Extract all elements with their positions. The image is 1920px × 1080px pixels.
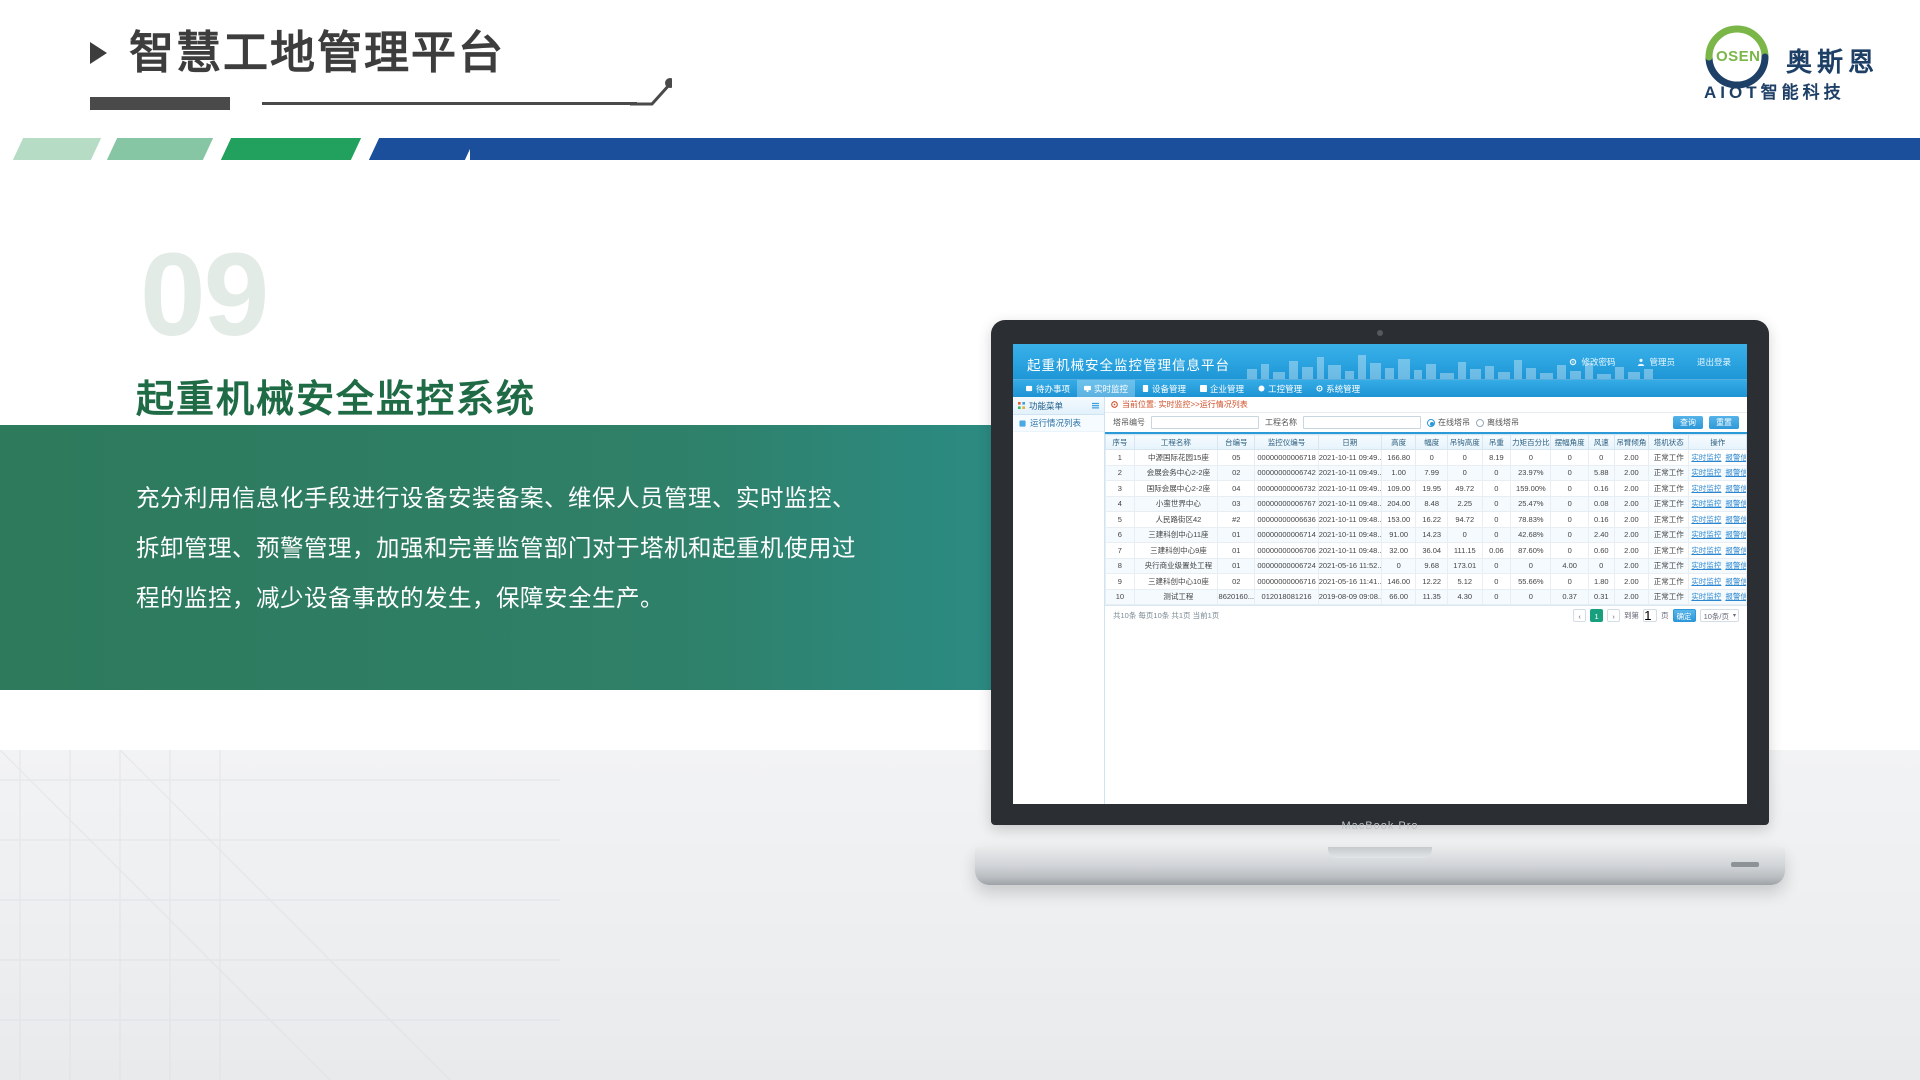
table-cell: 166.80	[1381, 450, 1415, 466]
table-cell: 2.00	[1614, 465, 1648, 481]
table-cell: 0.60	[1588, 543, 1614, 559]
table-cell: 小蛮世界中心	[1134, 496, 1217, 512]
table-cell: 正常工作	[1649, 512, 1689, 528]
table-cell: 66.00	[1381, 589, 1415, 605]
app-header-actions: 修改密码 管理员 退出登录	[1569, 356, 1731, 368]
table-cell: 01	[1218, 527, 1255, 543]
table-cell: 2.00	[1614, 527, 1648, 543]
bottom-decor-lines	[0, 750, 560, 1080]
table-cell: 01	[1218, 558, 1255, 574]
table-cell: 2021-10-11 09:48...	[1318, 527, 1381, 543]
laptop-model-label: MacBook Pro	[975, 820, 1785, 832]
table-cell: 0.16	[1588, 512, 1614, 528]
table-cell-actions: 实时监控报警信息	[1689, 574, 1747, 590]
table-cell: 0	[1551, 574, 1588, 590]
table-cell: 6	[1106, 527, 1135, 543]
table-cell: 正常工作	[1649, 496, 1689, 512]
table-cell: 8620160...	[1218, 589, 1255, 605]
page-1-button[interactable]: 1	[1590, 609, 1603, 622]
table-row: 9三建科创中心10座02000000000067162021-05-16 11:…	[1106, 574, 1747, 590]
table-cell: 2.00	[1614, 543, 1648, 559]
table-cell: 9.68	[1416, 558, 1448, 574]
nav-item-company-management[interactable]: 企业管理	[1193, 380, 1251, 398]
table-cell-actions: 实时监控报警信息	[1689, 558, 1747, 574]
nav-item-industrial-control[interactable]: 工控管理	[1251, 380, 1309, 398]
table-cell: 05	[1218, 450, 1255, 466]
table-row: 7三建科创中心9座01000000000067062021-10-11 09:4…	[1106, 543, 1747, 559]
row-action-link[interactable]: 实时监控	[1691, 561, 1721, 570]
table-column-header: 序号	[1106, 435, 1135, 450]
prev-page-button[interactable]: ‹	[1573, 609, 1586, 622]
table-row: 3国际会展中心2-2座04000000000067322021-10-11 09…	[1106, 481, 1747, 497]
table-cell: 00000000006742	[1255, 465, 1318, 481]
table-cell: 0	[1511, 450, 1551, 466]
row-action-link[interactable]: 实时监控	[1691, 546, 1721, 555]
radio-online-dot	[1427, 419, 1435, 427]
table-cell: 0	[1482, 512, 1511, 528]
page-title: 智慧工地管理平台	[90, 30, 505, 75]
table-cell: 0	[1482, 574, 1511, 590]
table-cell: 0	[1551, 527, 1588, 543]
table-row: 4小蛮世界中心03000000000067672021-10-11 09:48.…	[1106, 496, 1747, 512]
laptop-port	[1731, 862, 1759, 867]
table-cell: 7	[1106, 543, 1135, 559]
table-column-header: 风速	[1588, 435, 1614, 450]
next-page-button[interactable]: ›	[1607, 609, 1620, 622]
table-cell-actions: 实时监控报警信息	[1689, 527, 1747, 543]
nav-item-realtime-monitor[interactable]: 实时监控	[1077, 380, 1135, 398]
row-action-link[interactable]: 实时监控	[1691, 577, 1721, 586]
table-cell: 2.00	[1614, 558, 1648, 574]
table-cell: 00000000006706	[1255, 543, 1318, 559]
table-cell: 0	[1551, 450, 1588, 466]
table-cell: 央行商业级置处工程	[1134, 558, 1217, 574]
project-name-label: 工程名称	[1265, 417, 1297, 428]
page-unit-label: 页	[1661, 610, 1669, 621]
list-icon[interactable]	[1092, 402, 1099, 409]
table-cell: 测试工程	[1134, 589, 1217, 605]
table-cell: 正常工作	[1649, 589, 1689, 605]
table-cell: 0	[1511, 589, 1551, 605]
filter-bar: 塔吊编号 工程名称 在线塔吊 离线塔吊	[1105, 412, 1747, 434]
row-action-link[interactable]: 报警信息	[1725, 468, 1746, 477]
table-cell: 8.48	[1416, 496, 1448, 512]
table-column-header: 高度	[1381, 435, 1415, 450]
app-header: 起重机械安全监控管理信息平台 修改密码 管理员 退出登录	[1013, 344, 1747, 379]
table-cell: 00000000006636	[1255, 512, 1318, 528]
table-cell: 2021-10-11 09:48...	[1318, 512, 1381, 528]
table-cell: 01	[1218, 543, 1255, 559]
table-cell: 0.08	[1588, 496, 1614, 512]
table-cell: 2.00	[1614, 450, 1648, 466]
table-column-header: 塔机状态	[1649, 435, 1689, 450]
table-cell: 0	[1482, 481, 1511, 497]
table-cell: 0	[1551, 465, 1588, 481]
table-cell: 1.80	[1588, 574, 1614, 590]
admin-user-button[interactable]: 管理员	[1637, 356, 1675, 368]
row-action-link[interactable]: 报警信息	[1725, 453, 1746, 462]
radio-offline-label: 离线塔吊	[1487, 417, 1519, 428]
page-size-select[interactable]: 10条/页	[1700, 609, 1739, 622]
radio-online-tower[interactable]: 在线塔吊	[1427, 417, 1470, 428]
table-column-header: 工程名称	[1134, 435, 1217, 450]
row-action-link[interactable]: 报警信息	[1725, 561, 1746, 570]
table-cell: 2021-10-11 09:49...	[1318, 450, 1381, 466]
table-cell: 14.23	[1416, 527, 1448, 543]
table-cell: 2	[1106, 465, 1135, 481]
table-cell-actions: 实时监控报警信息	[1689, 496, 1747, 512]
title-tick-icon	[630, 78, 672, 106]
table-cell: 0	[1416, 450, 1448, 466]
logout-label: 退出登录	[1697, 356, 1731, 368]
section-description: 充分利用信息化手段进行设备安装备案、维保人员管理、实时监控、拆卸管理、预警管理，…	[136, 473, 856, 623]
table-cell: 23.97%	[1511, 465, 1551, 481]
reset-button[interactable]: 重置	[1709, 416, 1739, 429]
table-cell: 00000000006724	[1255, 558, 1318, 574]
table-cell: 2.00	[1614, 589, 1648, 605]
row-action-link[interactable]: 报警信息	[1725, 484, 1746, 493]
table-cell: 正常工作	[1649, 527, 1689, 543]
table-cell: 0	[1588, 558, 1614, 574]
table-cell-actions: 实时监控报警信息	[1689, 465, 1747, 481]
monitor-table: 序号工程名称台编号监控仪编号日期高度幅度吊钩高度吊重力矩百分比摆幅角度风速吊臂倾…	[1105, 434, 1747, 605]
logout-button[interactable]: 退出登录	[1697, 356, 1731, 368]
row-action-link[interactable]: 实时监控	[1691, 468, 1721, 477]
table-cell: 2019-08-09 09:08...	[1318, 589, 1381, 605]
table-column-header: 监控仪编号	[1255, 435, 1318, 450]
table-cell: 78.83%	[1511, 512, 1551, 528]
nav-label: 实时监控	[1094, 380, 1128, 398]
sidebar-title: 功能菜单	[1029, 400, 1063, 412]
table-cell: 0.31	[1588, 589, 1614, 605]
webcam-icon	[1377, 330, 1383, 336]
slide-root: 智慧工地管理平台 OSEN 奥斯恩 AIOT智能科技 09 起重机械安全监控系统…	[0, 0, 1920, 1080]
table-cell: 2.00	[1614, 496, 1648, 512]
nav-label: 企业管理	[1210, 380, 1244, 398]
table-cell: 0	[1511, 558, 1551, 574]
change-password-button[interactable]: 修改密码	[1569, 356, 1615, 368]
table-cell: 中源国际花园15座	[1134, 450, 1217, 466]
table-footer: 共10条 每页10条 共1页 当前1页 ‹ 1 › 到第 页 确定 10条/	[1105, 605, 1747, 625]
table-cell: 8	[1106, 558, 1135, 574]
table-cell: 3	[1106, 481, 1135, 497]
table-cell: 42.68%	[1511, 527, 1551, 543]
table-cell: 0.16	[1588, 481, 1614, 497]
row-action-link[interactable]: 报警信息	[1725, 515, 1746, 524]
app-nav-bar: 待办事项 实时监控 设备管理 企业管理	[1013, 379, 1747, 397]
table-cell: 正常工作	[1649, 481, 1689, 497]
radio-offline-tower[interactable]: 离线塔吊	[1476, 417, 1519, 428]
search-button[interactable]: 查询	[1673, 416, 1703, 429]
monitor-icon	[1084, 385, 1091, 392]
table-cell: 2021-10-11 09:49...	[1318, 465, 1381, 481]
table-row: 5人民路街区42#2000000000066362021-10-11 09:48…	[1106, 512, 1747, 528]
table-column-header: 日期	[1318, 435, 1381, 450]
table-row: 2会展会务中心2-2座02000000000067422021-10-11 09…	[1106, 465, 1747, 481]
table-cell: 0	[1482, 465, 1511, 481]
control-icon	[1258, 385, 1265, 392]
tasks-icon	[1026, 385, 1033, 392]
table-cell: 19.95	[1416, 481, 1448, 497]
grid-icon	[1018, 402, 1025, 409]
laptop-base	[975, 847, 1785, 885]
table-cell: 55.66%	[1511, 574, 1551, 590]
gear-icon	[1569, 358, 1577, 366]
table-cell: 4.30	[1448, 589, 1482, 605]
table-cell: 00000000006716	[1255, 574, 1318, 590]
admin-user-label: 管理员	[1649, 356, 1675, 368]
title-rule	[262, 102, 637, 105]
nav-label: 系统管理	[1326, 380, 1360, 398]
radio-offline-dot	[1476, 419, 1484, 427]
table-cell: 4	[1106, 496, 1135, 512]
table-cell: 0	[1551, 496, 1588, 512]
table-cell: 4.00	[1551, 558, 1588, 574]
table-cell: 0	[1551, 543, 1588, 559]
goto-page-input[interactable]	[1643, 609, 1657, 622]
table-cell: 5.12	[1448, 574, 1482, 590]
table-cell: 2021-10-11 09:48...	[1318, 543, 1381, 559]
table-cell: 16.22	[1416, 512, 1448, 528]
table-cell: 2021-10-11 09:48...	[1318, 496, 1381, 512]
laptop-mockup: 起重机械安全监控管理信息平台 修改密码 管理员 退出登录	[975, 320, 1785, 850]
goto-confirm-button[interactable]: 确定	[1673, 609, 1696, 622]
table-cell: 0.06	[1482, 543, 1511, 559]
radio-online-label: 在线塔吊	[1438, 417, 1470, 428]
table-cell: 5	[1106, 512, 1135, 528]
table-cell: 012018081216	[1255, 589, 1318, 605]
goto-label: 到第	[1624, 610, 1639, 621]
row-action-link[interactable]: 实时监控	[1691, 499, 1721, 508]
tower-no-input[interactable]	[1151, 416, 1259, 429]
table-cell: 146.00	[1381, 574, 1415, 590]
table-cell: 91.00	[1381, 527, 1415, 543]
table-column-header: 台编号	[1218, 435, 1255, 450]
row-action-link[interactable]: 实时监控	[1691, 484, 1721, 493]
section-title: 起重机械安全监控系统	[136, 368, 536, 423]
table-header-row: 序号工程名称台编号监控仪编号日期高度幅度吊钩高度吊重力矩百分比摆幅角度风速吊臂倾…	[1106, 435, 1747, 450]
table-cell: 2021-05-16 11:41...	[1318, 574, 1381, 590]
table-cell: 2.00	[1614, 512, 1648, 528]
table-column-header: 操作	[1689, 435, 1747, 450]
sidebar-item-operation-list[interactable]: 运行情况列表	[1013, 415, 1104, 432]
table-cell: 国际会展中心2-2座	[1134, 481, 1217, 497]
table-cell: 11.35	[1416, 589, 1448, 605]
table-cell: 03	[1218, 496, 1255, 512]
row-action-link[interactable]: 实时监控	[1691, 515, 1721, 524]
table-cell: 00000000006714	[1255, 527, 1318, 543]
table-cell: 153.00	[1381, 512, 1415, 528]
table-cell: 0.37	[1551, 589, 1588, 605]
table-row: 6三建科创中心11座01000000000067142021-10-11 09:…	[1106, 527, 1747, 543]
table-cell: 49.72	[1448, 481, 1482, 497]
tower-no-label: 塔吊编号	[1113, 417, 1145, 428]
table-cell: 02	[1218, 465, 1255, 481]
nav-label: 设备管理	[1152, 380, 1186, 398]
table-cell: 三建科创中心10座	[1134, 574, 1217, 590]
nav-label: 工控管理	[1268, 380, 1302, 398]
change-password-label: 修改密码	[1581, 356, 1615, 368]
table-cell: 00000000006718	[1255, 450, 1318, 466]
table-cell: 0	[1482, 558, 1511, 574]
table-cell: 12.22	[1416, 574, 1448, 590]
table-cell-actions: 实时监控报警信息	[1689, 450, 1747, 466]
table-cell: 2.25	[1448, 496, 1482, 512]
table-cell: 36.04	[1416, 543, 1448, 559]
logo-osen-text: OSEN	[1716, 48, 1761, 65]
table-cell: 94.72	[1448, 512, 1482, 528]
company-logo: OSEN 奥斯恩 AIOT智能科技	[1682, 18, 1882, 106]
table-cell: 111.15	[1448, 543, 1482, 559]
table-cell: 0	[1381, 558, 1415, 574]
table-cell: 7.99	[1416, 465, 1448, 481]
table-row: 1中源国际花园15座05000000000067182021-10-11 09:…	[1106, 450, 1747, 466]
location-icon	[1111, 401, 1118, 408]
table-cell: 会展会务中心2-2座	[1134, 465, 1217, 481]
table-column-header: 吊钩高度	[1448, 435, 1482, 450]
table-cell: 109.00	[1381, 481, 1415, 497]
table-cell: 0	[1482, 496, 1511, 512]
row-action-link[interactable]: 实时监控	[1691, 592, 1721, 601]
title-rule-thick	[90, 97, 230, 110]
table-column-header: 吊重	[1482, 435, 1511, 450]
table-cell: 三建科创中心11座	[1134, 527, 1217, 543]
row-action-link[interactable]: 报警信息	[1725, 499, 1746, 508]
table-cell: 1	[1106, 450, 1135, 466]
triangle-right-icon	[90, 42, 107, 64]
breadcrumb-text: 当前位置: 实时监控>>运行情况列表	[1122, 399, 1248, 410]
table-row: 10测试工程8620160...0120180812162019-08-09 0…	[1106, 589, 1747, 605]
laptop-lid: 起重机械安全监控管理信息平台 修改密码 管理员 退出登录	[991, 320, 1769, 825]
logo-brand-cn: 奥斯恩	[1786, 42, 1879, 79]
table-cell: 04	[1218, 481, 1255, 497]
table-column-header: 幅度	[1416, 435, 1448, 450]
table-cell-actions: 实时监控报警信息	[1689, 512, 1747, 528]
table-cell: 0	[1551, 481, 1588, 497]
gear-icon	[1316, 385, 1323, 392]
table-cell: 02	[1218, 574, 1255, 590]
doc-icon	[1019, 420, 1026, 427]
table-cell: #2	[1218, 512, 1255, 528]
breadcrumb: 当前位置: 实时监控>>运行情况列表	[1105, 397, 1747, 412]
section-number: 09	[140, 236, 267, 354]
table-cell: 9	[1106, 574, 1135, 590]
table-row: 8央行商业级置处工程01000000000067242021-05-16 11:…	[1106, 558, 1747, 574]
logo-subtitle: AIOT智能科技	[1704, 78, 1845, 103]
user-icon	[1637, 358, 1645, 366]
table-cell: 87.60%	[1511, 543, 1551, 559]
table-cell: 2.40	[1588, 527, 1614, 543]
row-action-link[interactable]: 实时监控	[1691, 530, 1721, 539]
device-icon	[1142, 385, 1149, 392]
sidebar-item-label: 运行情况列表	[1030, 417, 1081, 429]
app-body: 功能菜单 运行情况列表	[1013, 397, 1747, 804]
sidebar-header: 功能菜单	[1013, 397, 1104, 415]
table-cell: 正常工作	[1649, 558, 1689, 574]
header-accent-bars	[0, 138, 1920, 160]
sidebar: 功能菜单 运行情况列表	[1013, 397, 1105, 804]
table-body: 1中源国际花园15座05000000000067182021-10-11 09:…	[1106, 450, 1747, 605]
table-cell: 2021-05-16 11:52...	[1318, 558, 1381, 574]
table-cell: 25.47%	[1511, 496, 1551, 512]
table-cell: 2021-10-11 09:49...	[1318, 481, 1381, 497]
table-cell-actions: 实时监控报警信息	[1689, 589, 1747, 605]
table-cell: 173.01	[1448, 558, 1482, 574]
table-cell: 0	[1448, 527, 1482, 543]
row-action-link[interactable]: 报警信息	[1725, 592, 1746, 601]
table-column-header: 力矩百分比	[1511, 435, 1551, 450]
table-cell: 10	[1106, 589, 1135, 605]
row-action-link[interactable]: 报警信息	[1725, 546, 1746, 555]
laptop-notch	[1328, 847, 1432, 858]
nav-item-device-management[interactable]: 设备管理	[1135, 380, 1193, 398]
pagination: ‹ 1 › 到第 页 确定 10条/页	[1573, 609, 1739, 622]
table-cell: 159.00%	[1511, 481, 1551, 497]
table-cell: 正常工作	[1649, 574, 1689, 590]
table-cell: 00000000006767	[1255, 496, 1318, 512]
table-cell: 1.00	[1381, 465, 1415, 481]
app-brand-title: 起重机械安全监控管理信息平台	[1027, 354, 1230, 374]
content-area: 当前位置: 实时监控>>运行情况列表 塔吊编号 工程名称 在线塔吊	[1105, 397, 1747, 804]
table-cell: 32.00	[1381, 543, 1415, 559]
app-window: 起重机械安全监控管理信息平台 修改密码 管理员 退出登录	[1013, 344, 1747, 804]
project-name-input[interactable]	[1303, 416, 1421, 429]
table-cell: 0	[1448, 465, 1482, 481]
row-action-link[interactable]: 报警信息	[1725, 577, 1746, 586]
table-cell: 人民路街区42	[1134, 512, 1217, 528]
table-column-header: 吊臂倾角	[1614, 435, 1648, 450]
table-cell: 三建科创中心9座	[1134, 543, 1217, 559]
company-icon	[1200, 385, 1207, 392]
table-cell: 正常工作	[1649, 465, 1689, 481]
table-cell: 0	[1482, 589, 1511, 605]
table-cell: 2.00	[1614, 574, 1648, 590]
table-cell-actions: 实时监控报警信息	[1689, 543, 1747, 559]
table-cell: 0	[1551, 512, 1588, 528]
table-cell: 正常工作	[1649, 450, 1689, 466]
nav-item-tasks[interactable]: 待办事项	[1019, 380, 1077, 398]
row-action-link[interactable]: 实时监控	[1691, 453, 1721, 462]
table-cell: 00000000006732	[1255, 481, 1318, 497]
table-cell: 5.88	[1588, 465, 1614, 481]
table-cell: 8.19	[1482, 450, 1511, 466]
laptop-screen: 起重机械安全监控管理信息平台 修改密码 管理员 退出登录	[1013, 344, 1747, 804]
record-summary: 共10条 每页10条 共1页 当前1页	[1113, 610, 1219, 621]
row-action-link[interactable]: 报警信息	[1725, 530, 1746, 539]
table-cell-actions: 实时监控报警信息	[1689, 481, 1747, 497]
table-cell: 2.00	[1614, 481, 1648, 497]
nav-item-system-management[interactable]: 系统管理	[1309, 380, 1367, 398]
nav-label: 待办事项	[1036, 380, 1070, 398]
table-cell: 204.00	[1381, 496, 1415, 512]
table-cell: 正常工作	[1649, 543, 1689, 559]
table-cell: 0	[1588, 450, 1614, 466]
table-column-header: 摆幅角度	[1551, 435, 1588, 450]
page-title-text: 智慧工地管理平台	[129, 30, 505, 75]
table-cell: 0	[1482, 527, 1511, 543]
table-cell: 0	[1448, 450, 1482, 466]
